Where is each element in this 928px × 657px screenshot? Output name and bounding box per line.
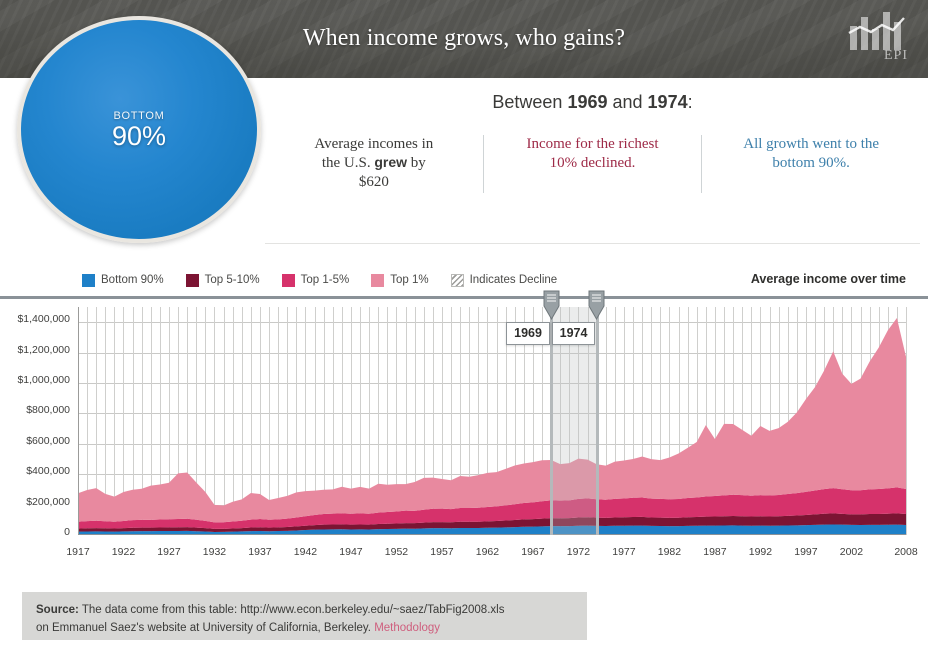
y-axis-tick-label: $1,400,000	[17, 313, 70, 325]
stats-columns: Average incomes in the U.S. grew by $620…	[265, 135, 920, 193]
x-axis-tick-label: 1932	[203, 546, 226, 558]
stats-divider	[265, 243, 920, 244]
x-axis-tick-label: 1957	[430, 546, 453, 558]
legend-item[interactable]: Top 1-5%	[282, 274, 350, 287]
slider-handle-left[interactable]	[543, 290, 560, 320]
x-axis-tick-label: 1967	[521, 546, 544, 558]
legend-item-label: Top 1-5%	[301, 274, 350, 286]
source-line-1: The data come from this table: http://ww…	[79, 604, 505, 616]
circle-caption: BOTTOM	[113, 110, 164, 122]
y-axis-tick-label: 0	[64, 526, 70, 538]
stat-line-1: Income for the richest	[492, 135, 694, 154]
x-axis-tick-label: 1937	[248, 546, 271, 558]
stat-line-2a: the U.S.	[322, 155, 375, 171]
slider-handle-right[interactable]	[588, 290, 605, 320]
area-series-top-1-	[78, 318, 906, 522]
infographic-page: When income grows, who gains? EPI BOTTOM…	[0, 0, 928, 657]
y-axis-tick-label: $800,000	[26, 404, 70, 416]
stat-grew-emphasis: grew	[374, 154, 407, 170]
legend-color-swatch-icon	[282, 274, 295, 287]
chart-title: Average income over time	[751, 272, 906, 286]
circle-value: 90%	[112, 123, 166, 150]
stat-line-2: 10% declined.	[492, 154, 694, 173]
source-note: Source: The data come from this table: h…	[22, 592, 587, 640]
x-axis-tick-label: 1947	[339, 546, 362, 558]
stat-column-richest-decline: Income for the richest 10% declined.	[483, 135, 702, 193]
stat-column-average-income: Average incomes in the U.S. grew by $620	[265, 135, 483, 193]
legend-item-label: Bottom 90%	[101, 274, 164, 286]
y-axis-tick-label: $1,000,000	[17, 374, 70, 386]
stat-line-2: bottom 90%.	[710, 154, 912, 173]
stat-line-1: Average incomes in	[273, 135, 475, 154]
stat-line-2c: by	[407, 155, 426, 171]
stat-column-growth-bottom90: All growth went to the bottom 90%.	[701, 135, 920, 193]
source-line-2: on Emmanuel Saez's website at University…	[36, 622, 374, 634]
source-label: Source:	[36, 604, 79, 616]
y-axis-tick-label: $1,200,000	[17, 344, 70, 356]
between-years-heading: Between 1969 and 1974:	[265, 92, 920, 113]
chart-legend: Bottom 90%Top 5-10%Top 1-5%Top 1%Indicat…	[82, 272, 579, 288]
between-suffix: :	[688, 92, 693, 112]
x-axis-tick-label: 1922	[112, 546, 135, 558]
x-axis-tick-label: 1962	[476, 546, 499, 558]
x-axis-tick-label: 1927	[157, 546, 180, 558]
bottom-90-circle[interactable]: BOTTOM 90%	[17, 16, 261, 243]
x-axis-tick-label: 1997	[794, 546, 817, 558]
year-label-start[interactable]: 1969	[506, 322, 550, 345]
between-year-start: 1969	[567, 92, 607, 112]
legend-hatch-swatch-icon	[451, 274, 464, 287]
x-axis-tick-label: 1987	[703, 546, 726, 558]
between-year-end: 1974	[648, 92, 688, 112]
gridline-vertical	[906, 307, 907, 535]
stacked-area-series	[78, 307, 906, 535]
legend-item[interactable]: Top 5-10%	[186, 274, 260, 287]
y-axis-labels: 0$200,000$400,000$600,000$800,000$1,000,…	[0, 296, 78, 546]
x-axis-tick-label: 1977	[612, 546, 635, 558]
y-axis-line	[78, 307, 79, 535]
y-axis-tick-label: $200,000	[26, 496, 70, 508]
legend-item-label: Top 1%	[390, 274, 428, 286]
x-axis-tick-label: 1917	[66, 546, 89, 558]
legend-item[interactable]: Indicates Decline	[451, 274, 558, 287]
y-axis-tick-label: $400,000	[26, 465, 70, 477]
x-axis-tick-label: 1982	[658, 546, 681, 558]
epi-logo-label: EPI	[884, 48, 908, 64]
x-axis-tick-label: 1952	[385, 546, 408, 558]
legend-color-swatch-icon	[82, 274, 95, 287]
stat-line-2: the U.S. grew by	[273, 154, 475, 173]
x-axis-tick-label: 2008	[894, 546, 917, 558]
stat-line-1: All growth went to the	[710, 135, 912, 154]
x-axis-tick-label: 1992	[749, 546, 772, 558]
y-axis-tick-label: $600,000	[26, 435, 70, 447]
legend-item[interactable]: Bottom 90%	[82, 274, 164, 287]
x-axis-tick-label: 1972	[567, 546, 590, 558]
legend-color-swatch-icon	[186, 274, 199, 287]
legend-item-label: Top 5-10%	[205, 274, 260, 286]
plot-region	[78, 307, 906, 535]
legend-color-swatch-icon	[371, 274, 384, 287]
methodology-link[interactable]: Methodology	[374, 622, 440, 634]
legend-item[interactable]: Top 1%	[371, 274, 428, 287]
x-axis-line	[78, 534, 906, 535]
chart-area	[0, 296, 928, 549]
stat-amount: $620	[273, 173, 475, 192]
between-mid: and	[608, 92, 648, 112]
between-prefix: Between	[492, 92, 567, 112]
year-label-end[interactable]: 1974	[552, 322, 596, 345]
selection-edge-right[interactable]	[596, 307, 599, 535]
x-axis-labels: 1917192219271932193719421947195219571962…	[78, 546, 906, 568]
x-axis-tick-label: 1942	[294, 546, 317, 558]
legend-item-label: Indicates Decline	[470, 274, 558, 286]
x-axis-tick-label: 2002	[840, 546, 863, 558]
stats-panel: Between 1969 and 1974: Average incomes i…	[265, 86, 920, 236]
